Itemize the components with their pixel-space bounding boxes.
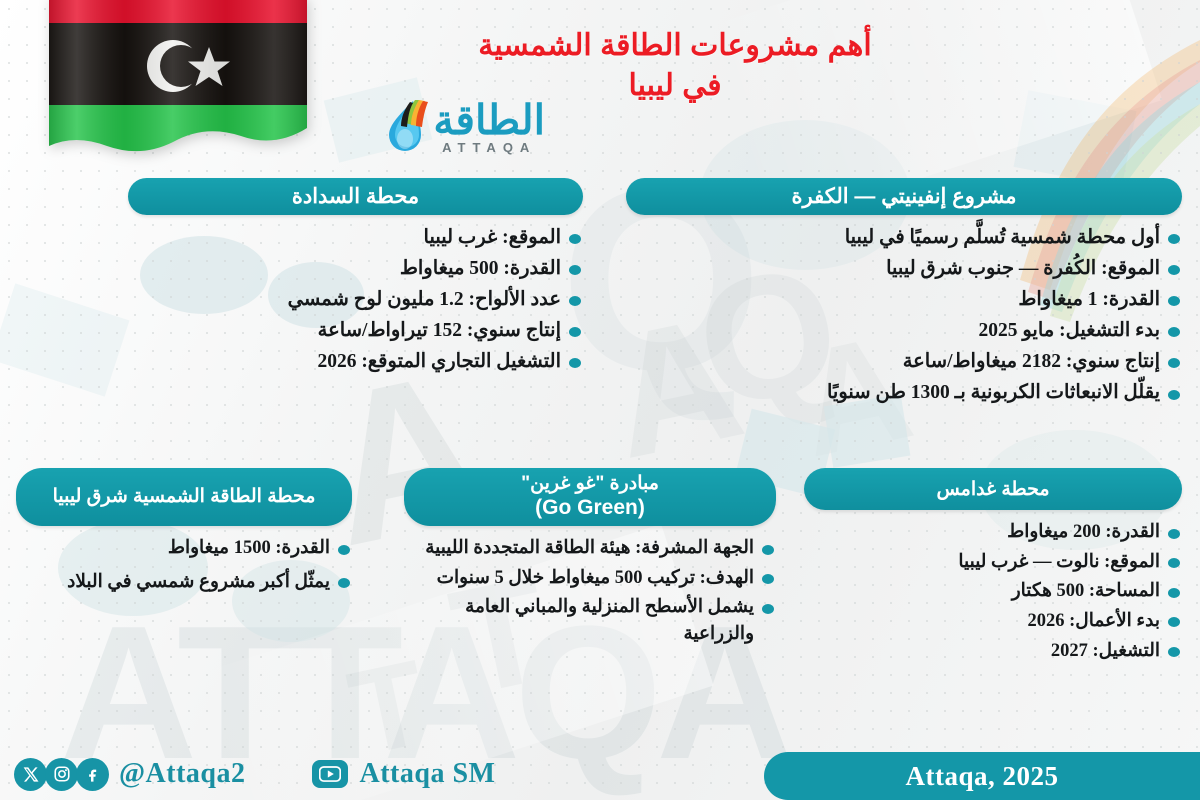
- page-title-line1: أهم مشروعات الطاقة الشمسية: [415, 26, 935, 66]
- list-item: التشغيل: 2027: [804, 638, 1182, 665]
- card-ghadames-title: محطة غدامس: [804, 468, 1182, 510]
- card-kufra-bullets: أول محطة شمسية تُسلَّم رسميًا في ليبيا ا…: [626, 224, 1182, 407]
- list-item: أول محطة شمسية تُسلَّم رسميًا في ليبيا: [626, 224, 1182, 252]
- card-go-green: مبادرة "غو غرين" (Go Green) الجهة المشرف…: [404, 468, 776, 651]
- card-go-green-bullets: الجهة المشرفة: هيئة الطاقة المتجددة اللي…: [404, 535, 776, 648]
- facebook-icon[interactable]: [76, 758, 109, 791]
- list-item: الموقع: نالوت — غرب ليبيا: [804, 549, 1182, 576]
- card-sadada-title: محطة السدادة: [128, 178, 583, 215]
- card-sadada: محطة السدادة الموقع: غرب ليبيا القدرة: 5…: [128, 178, 583, 379]
- list-item: الموقع: الكُفرة — جنوب شرق ليبيا: [626, 255, 1182, 283]
- list-item: عدد الألواح: 1.2 مليون لوح شمسي: [128, 286, 583, 314]
- card-east-libya: محطة الطاقة الشمسية شرق ليبيا القدرة: 15…: [16, 468, 352, 602]
- card-east-libya-title: محطة الطاقة الشمسية شرق ليبيا: [16, 468, 352, 526]
- card-kufra-title: مشروع إنفينيتي — الكفرة: [626, 178, 1182, 215]
- youtube-icon[interactable]: [312, 760, 348, 788]
- x-twitter-icon[interactable]: [14, 758, 47, 791]
- card-go-green-title: مبادرة "غو غرين" (Go Green): [404, 468, 776, 526]
- logo-latin-wordmark: ATTAQA: [442, 140, 536, 155]
- logo-arabic-wordmark: الطاقة: [433, 101, 545, 140]
- footer-credit-badge: Attaqa, 2025: [764, 752, 1200, 800]
- card-go-green-title-arabic: مبادرة "غو غرين": [521, 473, 659, 495]
- list-item: القدرة: 500 ميغاواط: [128, 255, 583, 283]
- list-item: يشمل الأسطح المنزلية والمباني العامة وال…: [404, 594, 776, 647]
- youtube-channel-name[interactable]: Attaqa SM: [360, 758, 496, 790]
- logo-text: الطاقة ATTAQA: [433, 101, 545, 156]
- card-ghadames-bullets: القدرة: 200 ميغاواط الموقع: نالوت — غرب …: [804, 519, 1182, 664]
- libya-flag: [45, 0, 311, 158]
- list-item: الموقع: غرب ليبيا: [128, 224, 583, 252]
- list-item: المساحة: 500 هكتار: [804, 578, 1182, 605]
- list-item: الجهة المشرفة: هيئة الطاقة المتجددة اللي…: [404, 535, 776, 562]
- list-item: يمثّل أكبر مشروع شمسي في البلاد: [16, 569, 352, 596]
- list-item: بدء التشغيل: مايو 2025: [626, 317, 1182, 345]
- card-ghadames: محطة غدامس القدرة: 200 ميغاواط الموقع: ن…: [804, 468, 1182, 667]
- attaqa-logo[interactable]: الطاقة ATTAQA: [330, 92, 545, 164]
- card-go-green-title-latin: (Go Green): [535, 496, 645, 521]
- list-item: القدرة: 200 ميغاواط: [804, 519, 1182, 546]
- card-east-libya-bullets: القدرة: 1500 ميغاواط يمثّل أكبر مشروع شم…: [16, 535, 352, 595]
- logo-droplet-icon: [383, 99, 429, 157]
- card-sadada-bullets: الموقع: غرب ليبيا القدرة: 500 ميغاواط عد…: [128, 224, 583, 376]
- youtube-group[interactable]: Attaqa SM: [312, 758, 496, 790]
- list-item: القدرة: 1 ميغاواط: [626, 286, 1182, 314]
- list-item: إنتاج سنوي: 152 تيراواط/ساعة: [128, 317, 583, 345]
- social-handle[interactable]: @Attaqa2: [119, 758, 246, 790]
- instagram-icon[interactable]: [45, 758, 78, 791]
- list-item: الهدف: تركيب 500 ميغاواط خلال 5 سنوات: [404, 565, 776, 592]
- list-item: التشغيل التجاري المتوقع: 2026: [128, 348, 583, 376]
- list-item: يقلّل الانبعاثات الكربونية بـ 1300 طن سن…: [626, 379, 1182, 407]
- list-item: القدرة: 1500 ميغاواط: [16, 535, 352, 562]
- list-item: إنتاج سنوي: 2182 ميغاواط/ساعة: [626, 348, 1182, 376]
- card-kufra: مشروع إنفينيتي — الكفرة أول محطة شمسية ت…: [626, 178, 1182, 410]
- list-item: بدء الأعمال: 2026: [804, 608, 1182, 635]
- footer-social-bar: @Attaqa2 Attaqa SM: [0, 748, 760, 800]
